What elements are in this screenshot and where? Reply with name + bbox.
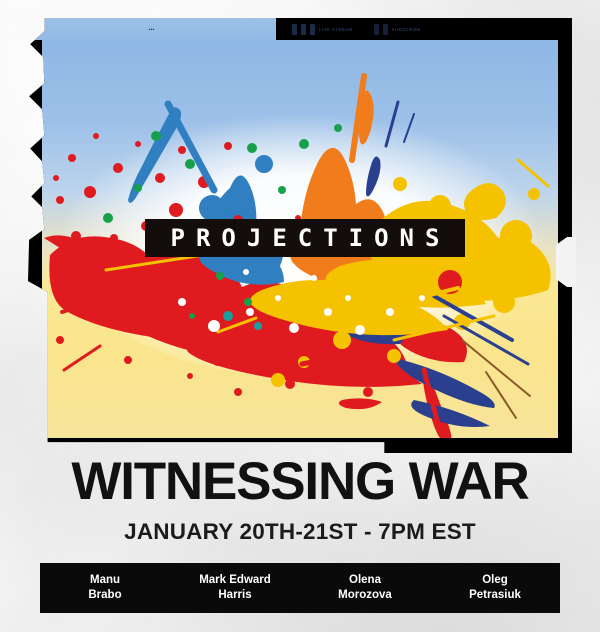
speaker-last-name: Harris bbox=[170, 588, 300, 603]
speaker-last-name: Petrasiuk bbox=[430, 588, 560, 603]
browser-tab-label: ••• bbox=[149, 26, 155, 32]
projections-label: PROJECTIONS bbox=[160, 224, 451, 252]
speaker-item: Mark Edward Harris bbox=[170, 573, 300, 603]
speaker-item: Oleg Petrasiuk bbox=[430, 573, 560, 603]
square-icon[interactable] bbox=[292, 24, 297, 35]
browser-chrome-bar: ••• LIVE STREAM SUBSCRIBE bbox=[28, 18, 572, 40]
speaker-first-name: Mark Edward bbox=[170, 573, 300, 588]
page-title: WITNESSING WAR bbox=[0, 455, 600, 508]
speakers-bar: Manu Brabo Mark Edward Harris Olena Moro… bbox=[40, 563, 560, 613]
square-icon[interactable] bbox=[383, 24, 388, 35]
poster-canvas: ••• LIVE STREAM SUBSCRIBE PROJECTIONS WI… bbox=[0, 0, 600, 632]
chrome-toolbar-text-1: LIVE STREAM bbox=[319, 27, 353, 32]
projections-title-band: PROJECTIONS bbox=[145, 219, 465, 257]
chrome-toolbar: LIVE STREAM SUBSCRIBE bbox=[276, 18, 572, 40]
speaker-item: Manu Brabo bbox=[40, 573, 170, 603]
speaker-last-name: Brabo bbox=[40, 588, 170, 603]
browser-tab[interactable]: ••• bbox=[28, 18, 276, 40]
speaker-first-name: Oleg bbox=[430, 573, 560, 588]
square-icon[interactable] bbox=[374, 24, 379, 35]
speaker-last-name: Morozova bbox=[300, 588, 430, 603]
ticket-notch-icon bbox=[556, 237, 576, 287]
speaker-first-name: Manu bbox=[40, 573, 170, 588]
speaker-first-name: Olena bbox=[300, 573, 430, 588]
speaker-item: Olena Morozova bbox=[300, 573, 430, 603]
square-icon[interactable] bbox=[310, 24, 315, 35]
event-datetime: JANUARY 20TH-21ST - 7PM EST bbox=[0, 519, 600, 545]
square-icon[interactable] bbox=[301, 24, 306, 35]
chrome-toolbar-text-2: SUBSCRIBE bbox=[392, 27, 421, 32]
